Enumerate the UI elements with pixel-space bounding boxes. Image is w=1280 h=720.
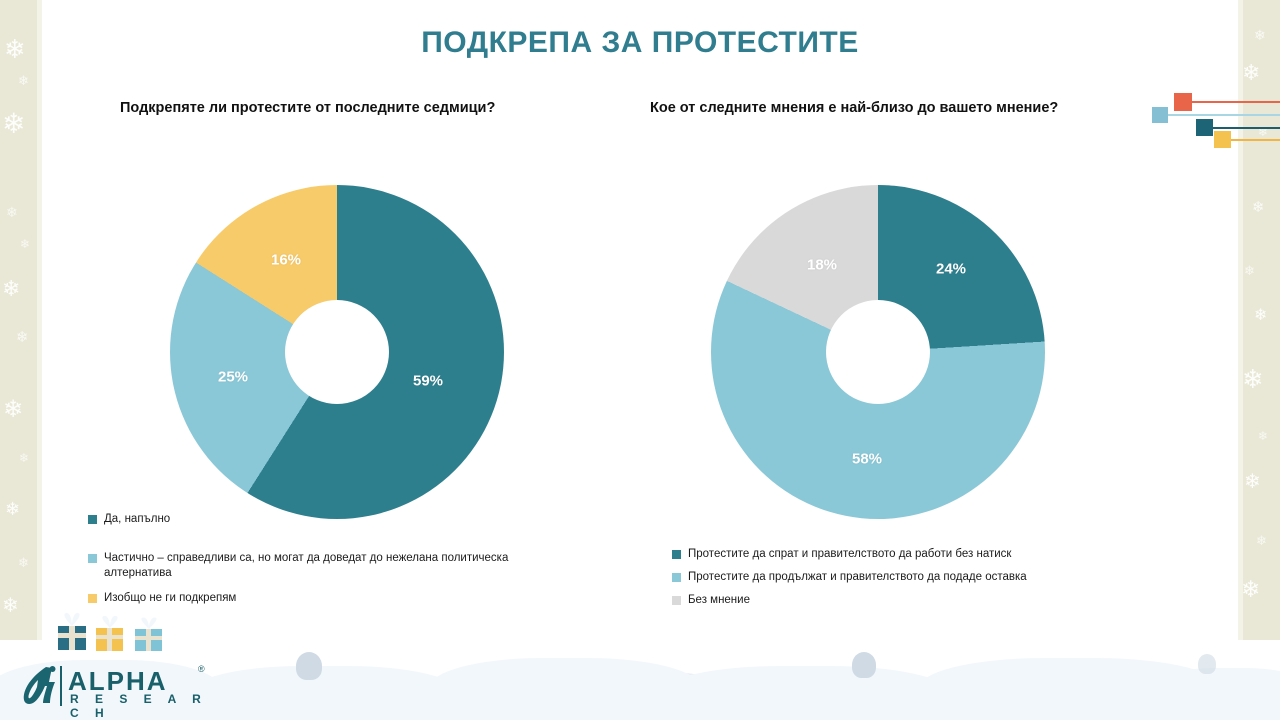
- decor-square-teal: [1196, 119, 1213, 136]
- legend-swatch-icon: [672, 550, 681, 559]
- left-chart-legend: Да, напълно Частично – справедливи са, н…: [88, 512, 588, 606]
- snowflake-icon: ❄: [1258, 430, 1268, 442]
- snowflake-icon: ❄: [1254, 308, 1267, 324]
- legend-swatch-icon: [88, 515, 97, 524]
- legend-label: Протестите да спрат и правителството да …: [688, 547, 1011, 562]
- left-donut-chart[interactable]: 59% 25% 16%: [170, 185, 504, 519]
- slide-canvas: ❄ ❄ ❄ ❄ ❄ ❄ ❄ ❄ ❄ ❄ ❄ ❄ ❄ ❄ ❄ ❄ ❄ ❄ ❄ ❄ …: [0, 0, 1280, 720]
- snowflake-icon: ❄: [1256, 534, 1267, 547]
- decor-square-orange: [1174, 93, 1192, 111]
- logo-divider: [60, 666, 62, 706]
- legend-swatch-icon: [672, 573, 681, 582]
- alpha-glyph-icon: [16, 662, 62, 708]
- right-slice-label-2: 58%: [852, 451, 882, 468]
- legend-item[interactable]: Да, напълно: [88, 512, 588, 527]
- logo-subtitle: R E S E A R C H: [70, 692, 225, 720]
- legend-item[interactable]: Изобщо не ги подкрепям: [88, 591, 588, 606]
- gift-box-icon: [132, 617, 166, 653]
- snowflake-icon: ❄: [18, 556, 29, 569]
- legend-label: Да, напълно: [104, 512, 170, 527]
- snow-rock: [852, 652, 876, 678]
- right-donut-wrap: 24% 58% 18%: [711, 185, 1045, 519]
- logo-registered-mark: ®: [198, 664, 205, 674]
- snowflake-icon: ❄: [20, 238, 30, 250]
- right-chart-legend: Протестите да спрат и правителството да …: [672, 547, 1122, 616]
- left-decor-band: ❄ ❄ ❄ ❄ ❄ ❄ ❄ ❄ ❄ ❄ ❄ ❄: [0, 0, 42, 720]
- corner-decoration: [1140, 88, 1280, 154]
- legend-item[interactable]: Протестите да спрат и правителството да …: [672, 547, 1122, 562]
- legend-item[interactable]: Протестите да продължат и правителството…: [672, 570, 1122, 585]
- legend-label: Изобщо не ги подкрепям: [104, 591, 236, 606]
- right-donut-chart[interactable]: 24% 58% 18%: [711, 185, 1045, 519]
- left-slice-label-2: 25%: [218, 369, 248, 386]
- left-slice-label-1: 59%: [413, 373, 443, 390]
- decor-line-1: [1152, 114, 1280, 116]
- legend-item[interactable]: Без мнение: [672, 593, 1122, 608]
- decor-square-yellow: [1214, 131, 1231, 148]
- legend-swatch-icon: [672, 596, 681, 605]
- left-chart-question: Подкрепяте ли протестите от последните с…: [120, 100, 640, 116]
- legend-label: Без мнение: [688, 593, 750, 608]
- legend-swatch-icon: [88, 594, 97, 603]
- snowflake-icon: ❄: [6, 205, 18, 219]
- gift-box-icon: [54, 612, 90, 652]
- snow-rock: [1198, 654, 1216, 674]
- legend-label: Частично – справедливи са, но могат да д…: [104, 551, 574, 581]
- left-slice-label-3: 16%: [271, 252, 301, 269]
- snowflake-icon: ❄: [5, 500, 20, 518]
- page-title: ПОДКРЕПА ЗА ПРОТЕСТИТЕ: [0, 26, 1280, 60]
- snowflake-icon: ❄: [2, 278, 20, 300]
- snowflake-icon: ❄: [1252, 200, 1265, 215]
- right-chart-panel: Кое от следните мнения е най-близо до ва…: [650, 100, 1170, 116]
- snowflake-icon: ❄: [1241, 578, 1260, 601]
- snow-rock: [296, 652, 322, 680]
- right-slice-label-1: 24%: [936, 261, 966, 278]
- snowflake-icon: ❄: [18, 74, 29, 87]
- legend-swatch-icon: [88, 554, 97, 563]
- snowflake-icon: ❄: [1244, 472, 1261, 492]
- left-band-highlight: [37, 0, 42, 720]
- left-chart-panel: Подкрепяте ли протестите от последните с…: [120, 100, 640, 116]
- right-slice-label-3: 18%: [807, 257, 837, 274]
- right-chart-question: Кое от следните мнения е най-близо до ва…: [650, 100, 1170, 116]
- snowflake-icon: ❄: [2, 110, 25, 138]
- snowflake-icon: ❄: [1244, 264, 1255, 277]
- snowflake-icon: ❄: [1242, 62, 1260, 84]
- legend-label: Протестите да продължат и правителството…: [688, 570, 1027, 585]
- left-donut-wrap: 59% 25% 16%: [170, 185, 504, 519]
- snowflake-icon: ❄: [3, 398, 23, 422]
- legend-item[interactable]: Частично – справедливи са, но могат да д…: [88, 551, 588, 581]
- snowflake-icon: ❄: [2, 596, 19, 616]
- snowflake-icon: ❄: [16, 330, 29, 345]
- snowflake-icon: ❄: [1242, 366, 1264, 392]
- snowflake-icon: ❄: [19, 452, 29, 464]
- gift-box-icon: [93, 615, 127, 653]
- alpha-research-logo: ALPHA ® R E S E A R C H: [10, 658, 225, 714]
